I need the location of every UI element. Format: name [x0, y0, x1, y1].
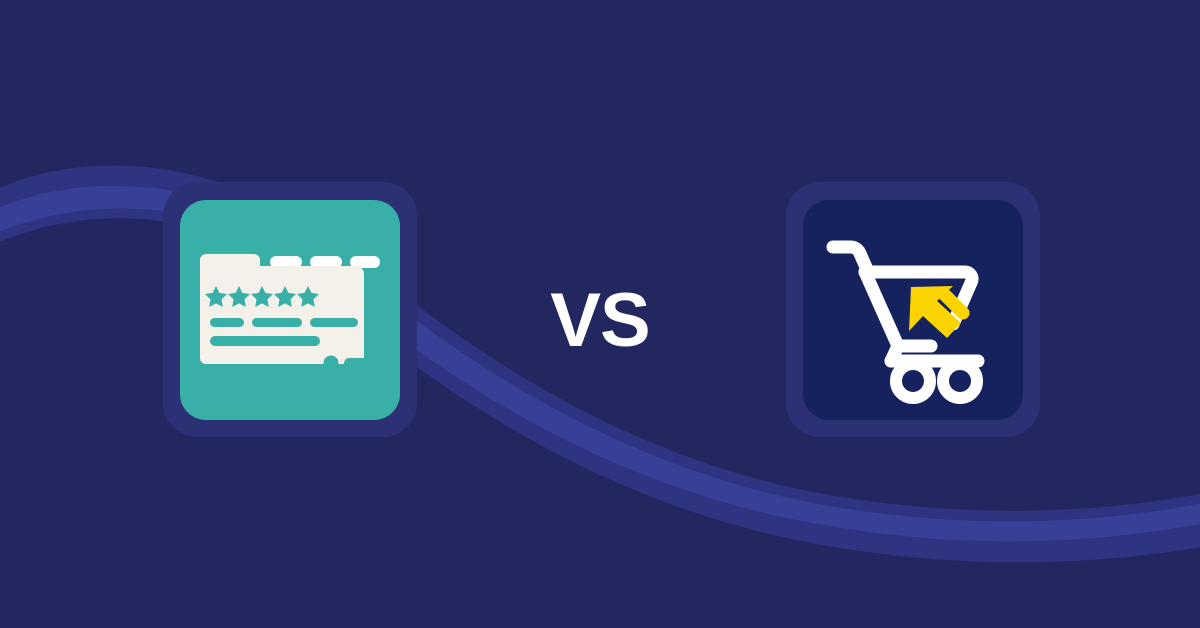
review-card-body [200, 254, 364, 364]
reviewer-avatar-dot [324, 356, 339, 371]
review-text-bar [210, 336, 320, 346]
versus-banner-canvas: VS [0, 0, 1200, 628]
cart-wheel [943, 364, 977, 398]
review-text-bar [310, 318, 358, 327]
product-reviews-icon [180, 200, 400, 420]
right-app-tile[interactable] [803, 200, 1023, 420]
versus-label: VS [500, 281, 700, 361]
review-text-bar [210, 318, 244, 327]
review-text-bar [252, 318, 302, 327]
left-app-tile[interactable] [180, 200, 400, 420]
shopping-cart-click-icon [803, 200, 1023, 420]
cart-wheel [896, 364, 930, 398]
reviewer-name-bar [344, 358, 370, 368]
